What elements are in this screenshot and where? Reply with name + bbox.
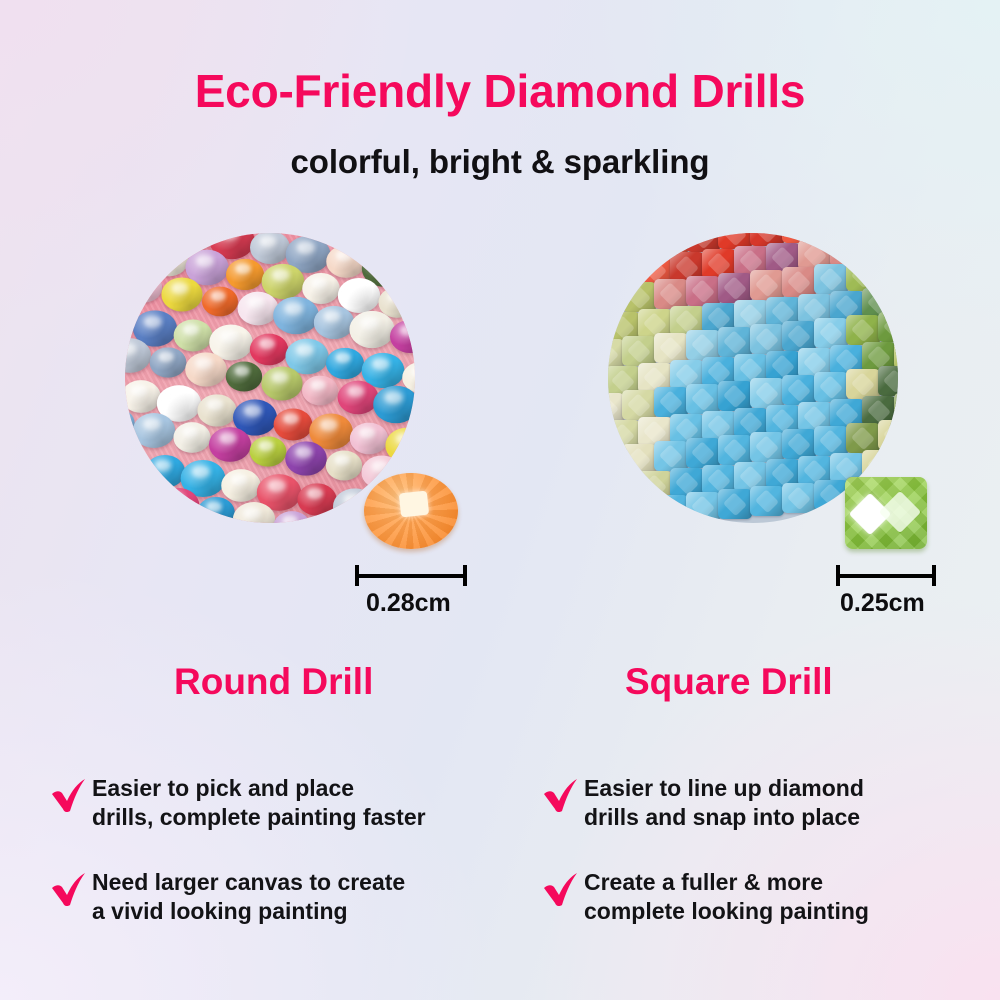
round-drill-bead	[349, 311, 394, 348]
round-drill-bead	[297, 483, 336, 515]
round-drill-bead	[226, 259, 264, 290]
square-drill-cell	[654, 333, 688, 363]
round-scale-bar	[355, 565, 467, 585]
square-drill-heading: Square Drill	[625, 661, 833, 703]
round-drill-bead	[174, 319, 213, 351]
square-drill-cell	[846, 315, 880, 345]
square-drill-cell	[814, 426, 848, 456]
square-drill-cell	[622, 282, 656, 312]
square-drill-cell	[718, 435, 752, 465]
round-drill-bead	[326, 245, 366, 278]
square-drill-cell	[654, 279, 688, 309]
square-drill-cell	[782, 375, 816, 405]
square-drill-cell	[622, 390, 656, 420]
round-drill-bead	[314, 306, 354, 339]
square-drill-cell	[846, 369, 880, 399]
square-drill-cell	[718, 489, 752, 519]
square-drill-cell	[750, 270, 784, 300]
square-drill-cell	[894, 285, 898, 315]
round-drill-heading: Round Drill	[174, 661, 373, 703]
square-drill-cell	[750, 432, 784, 462]
round-drill-bead	[238, 292, 279, 326]
square-scale-bar	[836, 565, 936, 585]
round-drill-bead	[197, 394, 236, 426]
list-item-label: Need larger canvas to create a vivid loo…	[92, 866, 405, 926]
square-drill-cell	[686, 438, 720, 468]
square-drill-cell	[846, 423, 880, 453]
list-item-label: Easier to line up diamond drills and sna…	[584, 772, 864, 832]
round-drill-bead	[373, 386, 415, 424]
square-drill-cell	[782, 321, 816, 351]
round-drill-bead	[250, 334, 288, 366]
round-drill-bead	[226, 361, 262, 391]
square-drill-cell	[814, 264, 848, 294]
square-drill-cell	[782, 267, 816, 297]
square-drill-cell	[686, 276, 720, 306]
square-drill-cell	[894, 339, 898, 369]
square-drill-cell	[814, 318, 848, 348]
round-drill-bead	[326, 450, 362, 480]
square-drill-cell	[686, 492, 720, 522]
square-drill-cell	[654, 495, 688, 523]
square-drill-cell	[654, 441, 688, 471]
square-drill-cell	[718, 327, 752, 357]
round-facet-highlight	[399, 491, 430, 518]
round-drill-specimen	[364, 473, 458, 549]
square-drill-cell	[894, 393, 898, 423]
round-drill-bead	[173, 422, 210, 453]
check-icon	[48, 774, 92, 818]
round-drill-bead	[250, 436, 287, 466]
list-item: Easier to pick and place drills, complet…	[48, 772, 426, 832]
round-drill-bead	[274, 408, 313, 440]
square-drill-cell	[782, 483, 816, 513]
square-drill-cell	[750, 378, 784, 408]
square-drill-specimen	[845, 477, 927, 549]
square-drill-cell	[718, 273, 752, 303]
check-icon	[48, 868, 92, 912]
round-drill-bead	[273, 297, 319, 335]
round-drill-bead	[157, 488, 200, 523]
round-scale-label: 0.28cm	[366, 589, 451, 618]
round-drill-bead	[338, 381, 379, 415]
list-item: Need larger canvas to create a vivid loo…	[48, 866, 405, 926]
infographic-content: Eco-Friendly Diamond Drills colorful, br…	[0, 0, 1000, 1000]
square-drill-cell	[894, 233, 898, 261]
square-scale-label: 0.25cm	[840, 589, 925, 618]
square-drill-cell	[686, 384, 720, 414]
round-drill-bead	[326, 348, 364, 379]
round-drill-bead	[161, 278, 202, 312]
square-drill-cell	[878, 312, 898, 342]
round-drill-bead	[126, 272, 162, 302]
round-drill-bead	[261, 367, 302, 401]
square-drill-cell	[750, 486, 784, 516]
square-drill-cell	[846, 261, 880, 291]
square-drill-cell	[878, 366, 898, 396]
square-drill-cell	[814, 480, 848, 510]
round-drill-bead	[285, 441, 327, 475]
scale-cap-right	[932, 565, 936, 586]
square-drill-cell	[878, 258, 898, 288]
round-drill-bead	[197, 497, 235, 523]
square-drill-cell	[782, 429, 816, 459]
page-subtitle: colorful, bright & sparkling	[0, 143, 1000, 181]
round-drill-bead	[350, 423, 388, 455]
round-drill-bead	[209, 427, 251, 462]
square-drill-cell	[622, 444, 656, 474]
check-icon	[540, 868, 584, 912]
square-drill-cell	[750, 324, 784, 354]
square-drill-cell	[622, 498, 656, 523]
list-item: Easier to line up diamond drills and sna…	[540, 772, 864, 832]
round-drill-bead	[145, 455, 185, 488]
round-drill-bead	[302, 376, 338, 406]
list-item-label: Easier to pick and place drills, complet…	[92, 772, 426, 832]
round-drill-bead	[221, 469, 261, 502]
scale-line	[836, 574, 936, 578]
square-drill-cell	[654, 387, 688, 417]
scale-cap-right	[463, 565, 467, 586]
check-icon	[540, 774, 584, 818]
square-drill-cell	[718, 381, 752, 411]
square-drill-cell	[622, 336, 656, 366]
square-drill-cell	[814, 372, 848, 402]
list-item-label: Create a fuller & more complete looking …	[584, 866, 869, 926]
round-drill-bead	[202, 287, 238, 317]
square-drill-cell	[878, 420, 898, 450]
square-drill-cell	[894, 447, 898, 477]
page-title: Eco-Friendly Diamond Drills	[0, 64, 1000, 118]
round-drill-bead	[150, 245, 188, 277]
scale-line	[355, 574, 467, 578]
square-drill-cell	[686, 330, 720, 360]
round-drill-bead	[150, 347, 187, 377]
list-item: Create a fuller & more complete looking …	[540, 866, 869, 926]
round-drill-bead	[133, 413, 175, 448]
round-drill-bead	[185, 352, 227, 386]
